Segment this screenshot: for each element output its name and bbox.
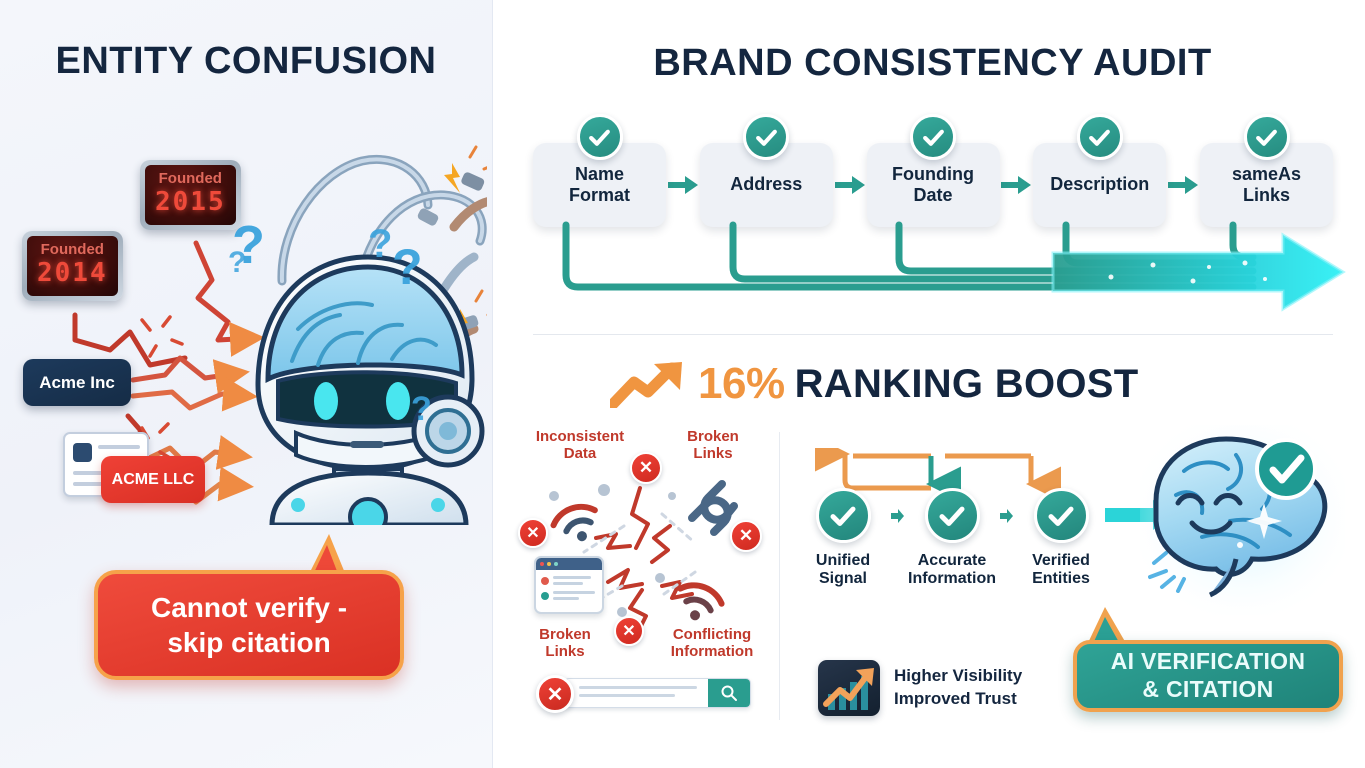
solution-node-label: UnifiedSignal [816,552,870,589]
section-divider-vertical [779,432,780,720]
window-dot [540,562,544,566]
solution-node-unified-signal[interactable]: UnifiedSignal [795,488,891,589]
entity-confusion-panel: ENTITY CONFUSION Founded 2014 Founded 20… [0,0,493,768]
visibility-text: Higher Visibility Improved Trust [894,665,1022,711]
question-mark-icon: ? [392,238,423,296]
window-dot [547,562,551,566]
window-row [541,591,602,600]
confused-robot-illustration [222,133,487,525]
solution-node-verified-entities[interactable]: VerifiedEntities [1013,488,1109,589]
section-divider-horizontal [533,334,1333,335]
audit-merge-arrow [493,215,1365,330]
problem-label-inconsistent-data: InconsistentData [522,428,638,463]
check-icon [816,488,871,543]
error-x-icon: ✕ [518,518,548,548]
visibility-line-1: Higher Visibility [894,665,1022,688]
growth-chart-icon [818,660,880,716]
page-title-brand-audit: BRAND CONSISTENCY AUDIT [500,42,1365,85]
visibility-benefit-row: Higher Visibility Improved Trust [818,660,1022,716]
browser-window-icon [534,556,604,614]
window-titlebar [536,558,602,570]
row-lines [553,591,595,600]
problem-label-broken-links-top: BrokenLinks [670,428,756,463]
window-row [541,576,602,585]
entity-chip-acme-llc: ACME LLC [101,456,205,503]
error-x-icon: ✕ [536,675,574,713]
question-mark-icon: ? [411,390,432,429]
check-icon [1244,114,1290,160]
solution-chain: UnifiedSignal AccurateInformation Verifi… [795,488,1109,589]
failed-search-bar[interactable]: ✕ [536,675,751,711]
error-x-icon: ✕ [630,452,662,484]
error-x-icon: ✕ [730,520,762,552]
search-input-box[interactable] [564,678,751,708]
row-bullet [541,592,549,600]
search-input[interactable] [565,679,708,707]
check-icon [577,114,623,160]
boost-percentage: 16% [698,359,785,409]
check-icon [1034,488,1089,543]
speech-bubble-cannot-verify: Cannot verify -skip citation [94,570,404,680]
error-x-icon: ✕ [614,616,644,646]
visibility-line-2: Improved Trust [894,688,1022,711]
check-icon [1077,114,1123,160]
solution-node-label: VerifiedEntities [1032,552,1090,589]
check-icon [743,114,789,160]
question-mark-icon: ? [368,222,392,267]
page-title-entity-confusion: ENTITY CONFUSION [0,40,492,83]
infographic-root: ENTITY CONFUSION Founded 2014 Founded 20… [0,0,1365,768]
question-mark-icon: ? [228,246,246,280]
solution-node-label: AccurateInformation [908,552,996,589]
ranking-boost-headline: 16% RANKING BOOST [610,358,1138,410]
document-line [98,445,140,449]
ai-badge-text: AI VERIFICATION& CITATION [1111,648,1305,703]
search-icon [720,684,738,702]
check-icon [910,114,956,160]
chain-arrow-icon [891,488,904,543]
solution-node-accurate-information[interactable]: AccurateInformation [904,488,1000,589]
chain-arrow-icon [1000,488,1013,543]
window-dot [554,562,558,566]
verified-brain-illustration [1140,425,1345,615]
speech-bubble-text: Cannot verify -skip citation [151,590,347,660]
ai-verification-badge: AI VERIFICATION& CITATION [1073,640,1343,712]
document-thumbnail [73,443,92,462]
entity-chip-acme-inc: Acme Inc [23,359,131,406]
row-bullet [541,577,549,585]
row-lines [553,576,591,585]
boost-label: RANKING BOOST [795,362,1139,407]
trending-up-arrow-icon [610,360,688,408]
check-icon [925,488,980,543]
search-button[interactable] [708,679,750,707]
